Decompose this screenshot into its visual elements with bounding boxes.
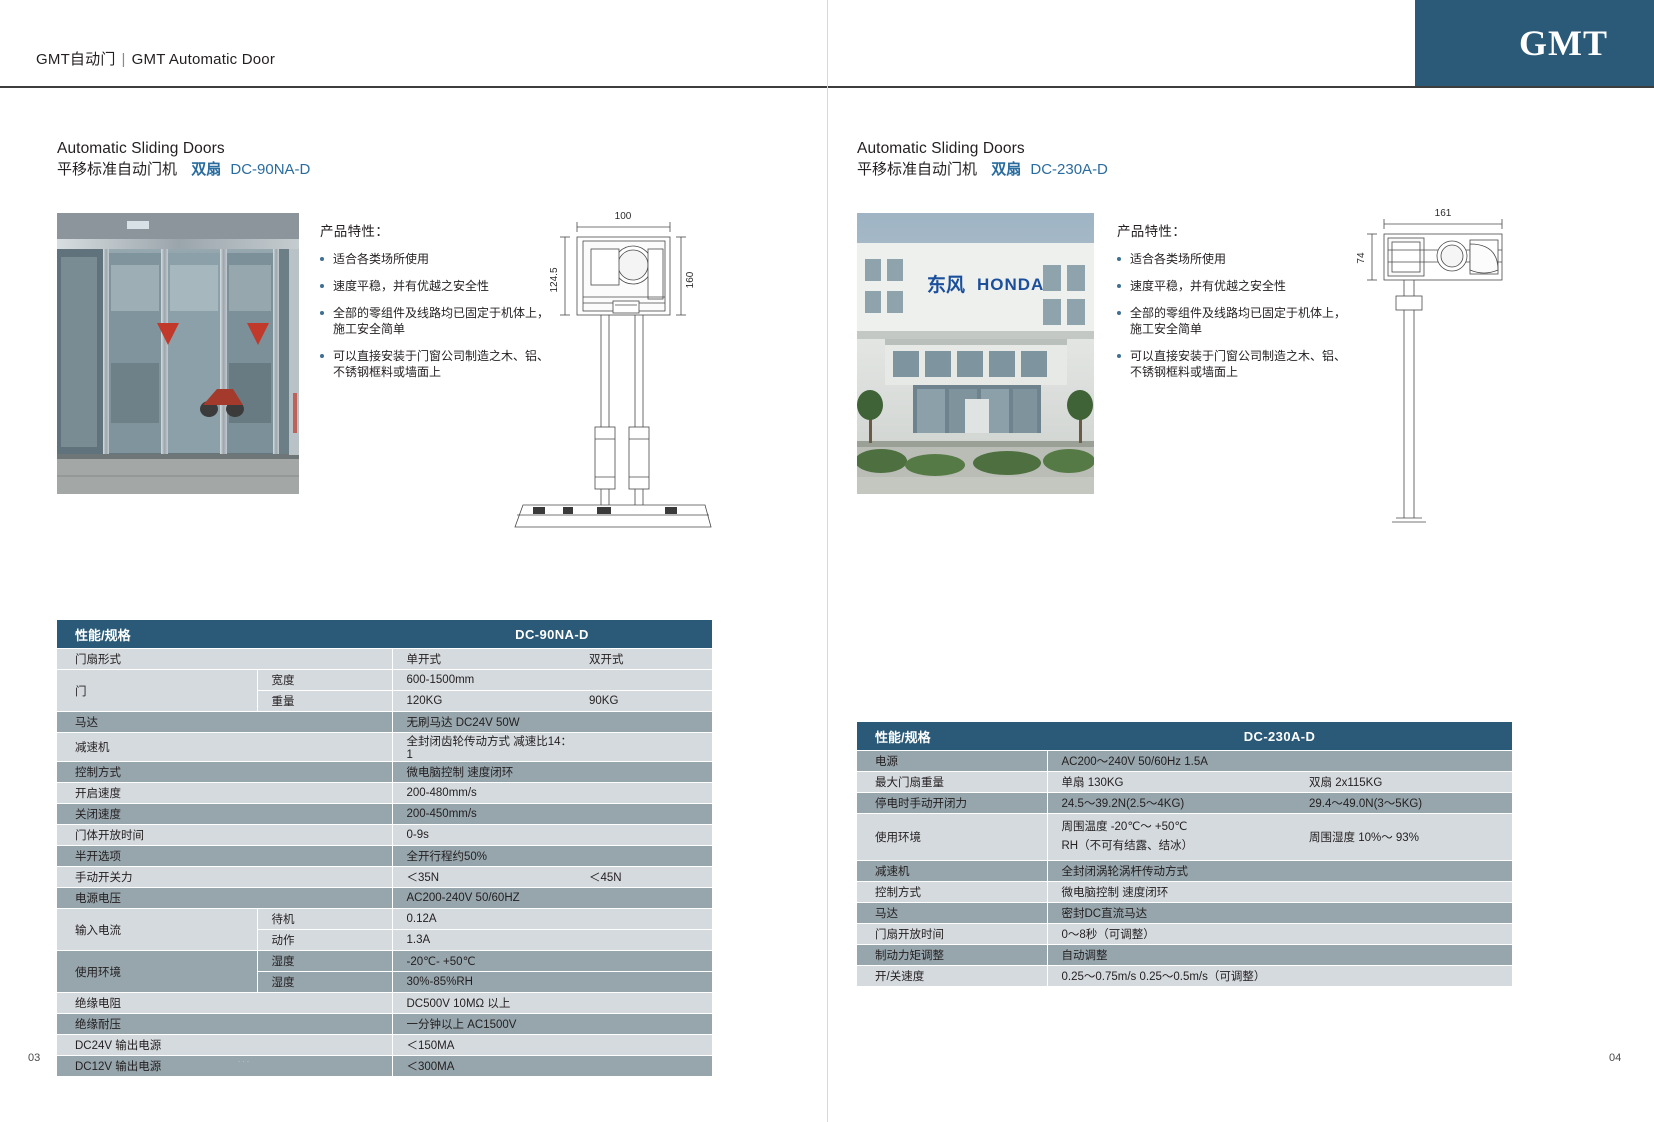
right-feature-text: 适合各类场所使用 — [1130, 252, 1226, 266]
row-value-line: 周围温度 -20℃～ +50℃ — [1062, 818, 1298, 837]
row-value: AC200-240V 50/60HZ — [392, 888, 577, 909]
row-value-line: 全封闭涡轮涡杆传动方式 — [1062, 863, 1298, 879]
table-row: 减速机全封闭齿轮传动方式 减速比14：1 — [57, 733, 712, 762]
row-value: 密封DC直流马达 — [1047, 903, 1297, 924]
left-page-number: 03 — [28, 1052, 40, 1064]
row-value-secondary — [577, 846, 712, 867]
row-value-secondary — [577, 733, 712, 762]
right-table-body: 性能/规格DC-230A-D电源AC200～240V 50/60Hz 1.5A最… — [857, 722, 1512, 986]
left-title-cn-wrap: 平移标准自动门机 双扇 DC-90NA-D — [57, 160, 310, 180]
table-row: 控制方式微电脑控制 速度闭环 — [57, 762, 712, 783]
row-value-secondary: 周围湿度 10%～ 93% — [1297, 814, 1512, 861]
row-value-line: 微电脑控制 速度闭环 — [1062, 884, 1298, 900]
row-value: DC500V 10MΩ 以上 — [392, 993, 577, 1014]
row-label: 使用环境 — [57, 951, 257, 993]
row-value-secondary — [577, 888, 712, 909]
row-sublabel: 湿度 — [257, 972, 392, 993]
left-technical-drawing: 100 124.5 160 — [505, 205, 720, 535]
photo-sign-cn: 东风 — [927, 273, 965, 296]
row-label: 控制方式 — [857, 882, 1047, 903]
row-value: 自动调整 — [1047, 945, 1297, 966]
right-header-label: 性能/规格 — [857, 722, 1047, 751]
row-value: 0-9s — [392, 825, 577, 846]
row-value-secondary — [577, 909, 712, 930]
row-sublabel: 重量 — [257, 691, 392, 712]
row-label: 电源电压 — [57, 888, 392, 909]
right-page-number: 04 — [1609, 1052, 1621, 1064]
right-title-highlight: 双扇 — [991, 161, 1021, 178]
row-label: 开启速度 — [57, 783, 392, 804]
row-label: 绝缘电阻 — [57, 993, 392, 1014]
left-title-highlight: 双扇 — [191, 161, 221, 178]
bullet-dot-icon — [1117, 311, 1121, 315]
right-feature-item: 全部的零组件及线路均已固定于机体上，施工安全简单 — [1117, 305, 1347, 337]
row-label: 门扇开放时间 — [857, 924, 1047, 945]
left-footer-mark: . . . — [238, 1055, 249, 1064]
row-value: 微电脑控制 速度闭环 — [1047, 882, 1297, 903]
table-row: DC24V 输出电源＜150MA — [57, 1035, 712, 1056]
left-spec-table: 性能/规格DC-90NA-D门扇形式单开式双开式门宽度600-1500mm重量1… — [57, 620, 712, 1076]
row-value-secondary — [1297, 966, 1512, 987]
row-value: 30%-85%RH — [392, 972, 577, 993]
row-sublabel: 宽度 — [257, 670, 392, 691]
row-value-secondary: ＜45N — [577, 867, 712, 888]
dim-right-label: 160 — [685, 271, 696, 288]
row-value-secondary — [577, 1014, 712, 1035]
row-value-secondary — [1297, 924, 1512, 945]
table-row: 输入电流待机0.12A — [57, 909, 712, 930]
right-features-list: 适合各类场所使用 速度平稳，并有优越之安全性 全部的零组件及线路均已固定于机体上… — [1117, 251, 1347, 380]
row-value: 无刷马达 DC24V 50W — [392, 712, 577, 733]
right-section-title: Automatic Sliding Doors 平移标准自动门机 双扇 DC-2… — [857, 140, 1108, 180]
table-row: 控制方式微电脑控制 速度闭环 — [857, 882, 1512, 903]
row-value: 全开行程约50% — [392, 846, 577, 867]
row-label: 门 — [57, 670, 257, 712]
row-label: 停电时手动开闭力 — [857, 793, 1047, 814]
bullet-dot-icon — [1117, 257, 1121, 261]
right-features-heading: 产品特性： — [1117, 220, 1347, 240]
table-row: DC12V 输出电源＜300MA — [57, 1056, 712, 1077]
left-table-header-row: 性能/规格DC-90NA-D — [57, 620, 712, 649]
photo-sign-en: HONDA — [977, 275, 1044, 294]
row-label: 开/关速度 — [857, 966, 1047, 987]
right-product-photo: 东风 HONDA — [857, 213, 1094, 494]
table-row: 绝缘耐压一分钟以上 AC1500V — [57, 1014, 712, 1035]
row-value-line: 24.5～39.2N(2.5～4KG) — [1062, 795, 1298, 811]
row-label: 门扇形式 — [57, 649, 392, 670]
right-feature-text: 可以直接安装于门窗公司制造之木、铝、不锈钢框料或墙面上 — [1130, 349, 1346, 379]
left-table-body: 性能/规格DC-90NA-D门扇形式单开式双开式门宽度600-1500mm重量1… — [57, 620, 712, 1076]
bullet-dot-icon — [1117, 354, 1121, 358]
left-feature-text: 速度平稳，并有优越之安全性 — [333, 279, 489, 293]
dim-top-label: 100 — [615, 211, 632, 222]
row-label: 电源 — [857, 751, 1047, 772]
row-label: 减速机 — [857, 861, 1047, 882]
left-title-model: DC-90NA-D — [230, 161, 310, 178]
table-row: 门扇形式单开式双开式 — [57, 649, 712, 670]
row-value-secondary — [577, 972, 712, 993]
row-value-line: 0.25～0.75m/s 0.25～0.5m/s（可调整） — [1062, 968, 1298, 984]
row-label: 马达 — [857, 903, 1047, 924]
row-label: 半开选项 — [57, 846, 392, 867]
row-label: 门体开放时间 — [57, 825, 392, 846]
right-page: Automatic Sliding Doors 平移标准自动门机 双扇 DC-2… — [827, 0, 1654, 1122]
row-value: AC200～240V 50/60Hz 1.5A — [1047, 751, 1297, 772]
right-feature-text: 全部的零组件及线路均已固定于机体上，施工安全简单 — [1130, 306, 1346, 336]
table-row: 马达无刷马达 DC24V 50W — [57, 712, 712, 733]
row-value-line: 单扇 130KG — [1062, 774, 1298, 790]
row-value: 周围温度 -20℃～ +50℃RH（不可有结露、结冰） — [1047, 814, 1297, 861]
right-feature-item: 速度平稳，并有优越之安全性 — [1117, 278, 1347, 294]
left-product-photo — [57, 213, 299, 494]
row-value-line: RH（不可有结露、结冰） — [1062, 837, 1298, 856]
right-table-header-row: 性能/规格DC-230A-D — [857, 722, 1512, 751]
row-label: 输入电流 — [57, 909, 257, 951]
row-label: 控制方式 — [57, 762, 392, 783]
right-title-en: Automatic Sliding Doors — [857, 140, 1108, 158]
bullet-dot-icon — [320, 311, 324, 315]
row-label: 手动开关力 — [57, 867, 392, 888]
row-label: 绝缘耐压 — [57, 1014, 392, 1035]
table-row: 电源电压AC200-240V 50/60HZ — [57, 888, 712, 909]
row-value: ＜300MA — [392, 1056, 577, 1077]
row-value: -20℃- +50℃ — [392, 951, 577, 972]
row-value-line: 自动调整 — [1062, 947, 1298, 963]
row-value: ＜150MA — [392, 1035, 577, 1056]
left-feature-text: 适合各类场所使用 — [333, 252, 429, 266]
right-spec-table: 性能/规格DC-230A-D电源AC200～240V 50/60Hz 1.5A最… — [857, 722, 1512, 986]
row-value-secondary — [577, 762, 712, 783]
row-value: ＜35N — [392, 867, 577, 888]
left-title-en: Automatic Sliding Doors — [57, 140, 310, 158]
row-value: 全封闭涡轮涡杆传动方式 — [1047, 861, 1297, 882]
table-row: 门扇开放时间0～8秒（可调整） — [857, 924, 1512, 945]
row-value-secondary — [1297, 751, 1512, 772]
row-value-secondary: 90KG — [577, 691, 712, 712]
row-value: 24.5～39.2N(2.5～4KG) — [1047, 793, 1297, 814]
row-value: 120KG — [392, 691, 577, 712]
right-feature-text: 速度平稳，并有优越之安全性 — [1130, 279, 1286, 293]
row-value-secondary — [577, 804, 712, 825]
row-value: 200-450mm/s — [392, 804, 577, 825]
table-row: 绝缘电阻DC500V 10MΩ 以上 — [57, 993, 712, 1014]
table-row: 开启速度200-480mm/s — [57, 783, 712, 804]
dim-top-label: 161 — [1435, 208, 1452, 219]
row-value-secondary — [577, 1035, 712, 1056]
table-row: 电源AC200～240V 50/60Hz 1.5A — [857, 751, 1512, 772]
dim-left-label: 124.5 — [549, 267, 560, 292]
table-row: 使用环境周围温度 -20℃～ +50℃RH（不可有结露、结冰）周围湿度 10%～… — [857, 814, 1512, 861]
bullet-dot-icon — [320, 284, 324, 288]
bullet-dot-icon — [320, 354, 324, 358]
row-sublabel: 待机 — [257, 909, 392, 930]
row-value: 全封闭齿轮传动方式 减速比14：1 — [392, 733, 577, 762]
row-value: 单开式 — [392, 649, 577, 670]
row-value: 一分钟以上 AC1500V — [392, 1014, 577, 1035]
row-sublabel: 湿度 — [257, 951, 392, 972]
row-value-secondary — [577, 930, 712, 951]
table-row: 手动开关力＜35N＜45N — [57, 867, 712, 888]
row-label: 减速机 — [57, 733, 392, 762]
row-value-secondary: 双扇 2x115KG — [1297, 772, 1512, 793]
table-row: 门宽度600-1500mm — [57, 670, 712, 691]
bullet-dot-icon — [1117, 284, 1121, 288]
table-row: 关闭速度200-450mm/s — [57, 804, 712, 825]
row-value-line: AC200～240V 50/60Hz 1.5A — [1062, 753, 1298, 769]
row-value-secondary — [1297, 861, 1512, 882]
right-header-model: DC-230A-D — [1047, 722, 1512, 751]
row-value: 600-1500mm — [392, 670, 577, 691]
row-value: 1.3A — [392, 930, 577, 951]
table-row: 马达密封DC直流马达 — [857, 903, 1512, 924]
table-row: 门体开放时间0-9s — [57, 825, 712, 846]
right-features: 产品特性： 适合各类场所使用 速度平稳，并有优越之安全性 全部的零组件及线路均已… — [1117, 220, 1347, 391]
row-label: 使用环境 — [857, 814, 1047, 861]
row-value: 200-480mm/s — [392, 783, 577, 804]
table-row: 使用环境湿度-20℃- +50℃ — [57, 951, 712, 972]
row-value-line: 密封DC直流马达 — [1062, 905, 1298, 921]
row-value: 微电脑控制 速度闭环 — [392, 762, 577, 783]
row-label: 马达 — [57, 712, 392, 733]
row-value-secondary — [577, 670, 712, 691]
row-label: 制动力矩调整 — [857, 945, 1047, 966]
row-value-secondary — [577, 993, 712, 1014]
bullet-dot-icon — [320, 257, 324, 261]
right-title-model: DC-230A-D — [1030, 161, 1108, 178]
table-row: 半开选项全开行程约50% — [57, 846, 712, 867]
row-value-secondary — [1297, 882, 1512, 903]
row-sublabel: 动作 — [257, 930, 392, 951]
left-header-label: 性能/规格 — [57, 620, 392, 649]
left-header-model: DC-90NA-D — [392, 620, 712, 649]
table-row: 开/关速度0.25～0.75m/s 0.25～0.5m/s（可调整） — [857, 966, 1512, 987]
row-label: DC12V 输出电源 — [57, 1056, 392, 1077]
row-label: DC24V 输出电源 — [57, 1035, 392, 1056]
table-row: 停电时手动开闭力24.5～39.2N(2.5～4KG)29.4～49.0N(3～… — [857, 793, 1512, 814]
row-label: 最大门扇重量 — [857, 772, 1047, 793]
left-title-cn: 平移标准自动门机 — [57, 161, 177, 178]
left-page: Automatic Sliding Doors 平移标准自动门机 双扇 DC-9… — [0, 0, 827, 1122]
row-value-line: 0～8秒（可调整） — [1062, 926, 1298, 942]
row-value-secondary — [1297, 903, 1512, 924]
row-value: 0～8秒（可调整） — [1047, 924, 1297, 945]
row-value-secondary — [577, 1056, 712, 1077]
row-value: 单扇 130KG — [1047, 772, 1297, 793]
dim-left-label: 74 — [1356, 252, 1367, 264]
row-value-secondary: 29.4～49.0N(3～5KG) — [1297, 793, 1512, 814]
table-row: 制动力矩调整自动调整 — [857, 945, 1512, 966]
row-value-secondary — [1297, 945, 1512, 966]
row-value: 0.25～0.75m/s 0.25～0.5m/s（可调整） — [1047, 966, 1297, 987]
left-section-title: Automatic Sliding Doors 平移标准自动门机 双扇 DC-9… — [57, 140, 310, 180]
row-value: 0.12A — [392, 909, 577, 930]
row-value-secondary — [577, 825, 712, 846]
table-row: 最大门扇重量单扇 130KG双扇 2x115KG — [857, 772, 1512, 793]
row-value-secondary — [577, 951, 712, 972]
right-feature-item: 适合各类场所使用 — [1117, 251, 1347, 267]
row-value-secondary — [577, 712, 712, 733]
row-value-secondary — [577, 783, 712, 804]
right-title-cn-wrap: 平移标准自动门机 双扇 DC-230A-D — [857, 160, 1108, 180]
row-value-secondary: 双开式 — [577, 649, 712, 670]
table-row: 减速机全封闭涡轮涡杆传动方式 — [857, 861, 1512, 882]
right-feature-item: 可以直接安装于门窗公司制造之木、铝、不锈钢框料或墙面上 — [1117, 348, 1347, 380]
right-technical-drawing: 161 74 — [1352, 200, 1532, 545]
right-title-cn: 平移标准自动门机 — [857, 161, 977, 178]
row-label: 关闭速度 — [57, 804, 392, 825]
